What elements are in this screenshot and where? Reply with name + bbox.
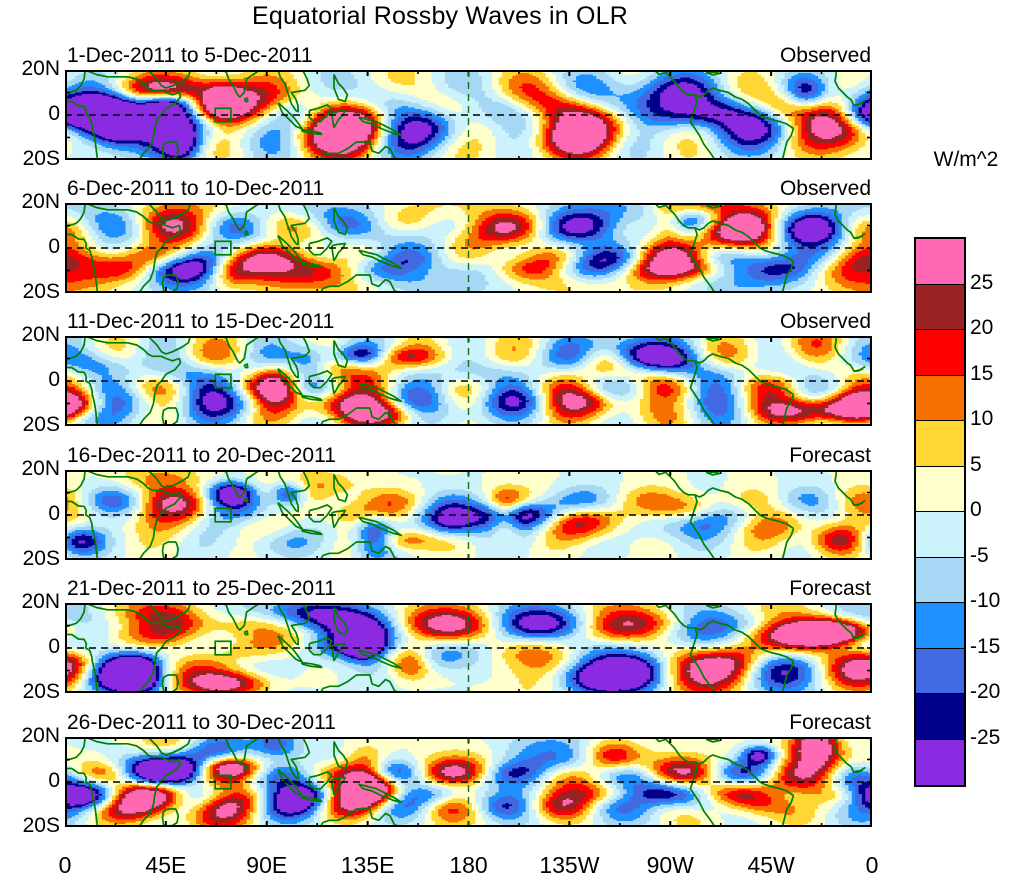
panel-status-label: Observed [780, 310, 871, 334]
y-axis-label: 0 [0, 635, 60, 659]
y-axis-label: 20S [0, 413, 60, 437]
panel-frame [65, 70, 872, 160]
colorbar-tick-label: 0 [970, 498, 982, 522]
y-axis-label: 20S [0, 147, 60, 171]
colorbar-band [916, 694, 964, 740]
x-axis-label: 45E [145, 852, 186, 879]
y-axis-label: 20N [0, 724, 60, 748]
y-axis-label: 20S [0, 280, 60, 304]
y-axis-label: 0 [0, 368, 60, 392]
panel-date-range: 6-Dec-2011 to 10-Dec-2011 [67, 177, 324, 201]
y-axis-label: 20S [0, 547, 60, 571]
map-panel-3: 11-Dec-2011 to 15-Dec-2011Observed [65, 336, 872, 426]
colorbar [914, 237, 966, 787]
y-axis-label: 0 [0, 769, 60, 793]
panel-status-label: Forecast [789, 444, 871, 468]
panel-frame [65, 737, 872, 827]
page-title: Equatorial Rossby Waves in OLR [0, 2, 880, 31]
colorbar-tick-label: -20 [970, 680, 1000, 704]
panel-status-label: Observed [780, 177, 871, 201]
colorbar-band [916, 467, 964, 513]
map-panel-4: 16-Dec-2011 to 20-Dec-2011Forecast [65, 470, 872, 560]
y-axis-label: 20S [0, 814, 60, 838]
map-panel-1: 1-Dec-2011 to 5-Dec-2011Observed [65, 70, 872, 160]
panel-frame [65, 203, 872, 293]
colorbar-tick-label: 15 [970, 362, 993, 386]
colorbar-tick-label: -10 [970, 589, 1000, 613]
colorbar-band [916, 330, 964, 376]
y-axis-label: 20N [0, 57, 60, 81]
panel-frame [65, 470, 872, 560]
panel-status-label: Observed [780, 44, 871, 68]
panel-frame [65, 336, 872, 426]
colorbar-band [916, 649, 964, 695]
y-axis-label: 0 [0, 235, 60, 259]
x-axis-label: 135E [341, 852, 395, 879]
x-axis-labels: 045E90E135E180135W90W45W0 [0, 852, 1021, 882]
x-axis-label: 180 [449, 852, 487, 879]
y-axis-label: 20N [0, 190, 60, 214]
y-axis-label: 20N [0, 590, 60, 614]
colorbar-tick-label: 5 [970, 453, 982, 477]
colorbar-band [916, 376, 964, 422]
colorbar-band [916, 421, 964, 467]
colorbar-band [916, 285, 964, 331]
panel-date-range: 11-Dec-2011 to 15-Dec-2011 [67, 310, 334, 334]
colorbar-tick-label: 25 [970, 271, 993, 295]
colorbar-tick-label: -25 [970, 726, 1000, 750]
y-axis-label: 0 [0, 102, 60, 126]
panel-date-range: 21-Dec-2011 to 25-Dec-2011 [67, 577, 336, 601]
colorbar-band [916, 512, 964, 558]
panel-date-range: 1-Dec-2011 to 5-Dec-2011 [67, 44, 313, 68]
x-axis-label: 0 [59, 852, 72, 879]
panel-frame [65, 603, 872, 693]
x-axis-label: 135W [539, 852, 599, 879]
colorbar-band [916, 603, 964, 649]
panel-status-label: Forecast [789, 577, 871, 601]
colorbar-units: W/m^2 [916, 148, 1016, 172]
colorbar-band [916, 558, 964, 604]
map-panel-5: 21-Dec-2011 to 25-Dec-2011Forecast [65, 603, 872, 693]
colorbar-tick-label: 10 [970, 407, 993, 431]
y-axis-label: 20N [0, 457, 60, 481]
x-axis-label: 0 [866, 852, 879, 879]
map-panel-2: 6-Dec-2011 to 10-Dec-2011Observed [65, 203, 872, 293]
colorbar-tick-label: -15 [970, 635, 1000, 659]
y-axis-label: 20S [0, 680, 60, 704]
colorbar-band [916, 239, 964, 285]
colorbar-tick-label: 20 [970, 316, 993, 340]
y-axis-label: 0 [0, 502, 60, 526]
panel-date-range: 26-Dec-2011 to 30-Dec-2011 [67, 711, 336, 735]
x-axis-label: 90E [246, 852, 287, 879]
x-axis-label: 45W [747, 852, 794, 879]
x-axis-label: 90W [647, 852, 694, 879]
colorbar-tick-label: -5 [970, 544, 989, 568]
map-panel-6: 26-Dec-2011 to 30-Dec-2011Forecast [65, 737, 872, 827]
colorbar-band [916, 740, 964, 786]
y-axis-label: 20N [0, 323, 60, 347]
panel-status-label: Forecast [789, 711, 871, 735]
panel-date-range: 16-Dec-2011 to 20-Dec-2011 [67, 444, 336, 468]
